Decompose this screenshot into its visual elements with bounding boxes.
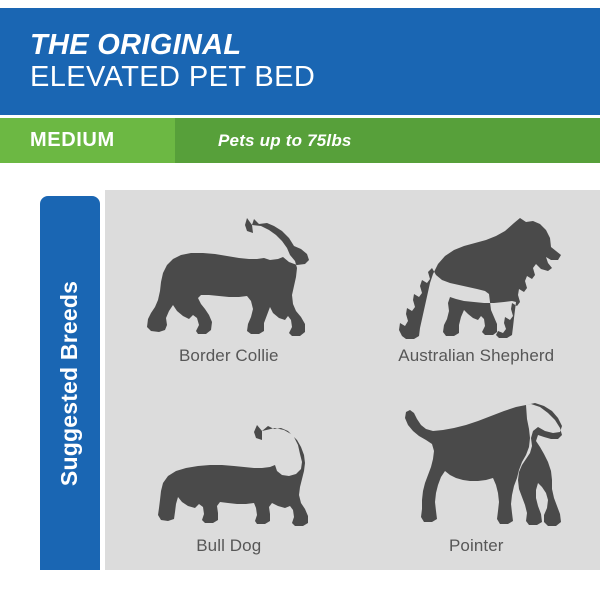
breeds-grid: Border Collie Australian Shepherd [105, 190, 600, 570]
breed-name: Border Collie [179, 347, 279, 374]
capacity-label: Pets up to 75lbs [218, 131, 352, 151]
suggested-breeds-panel: Border Collie Australian Shepherd [105, 190, 600, 570]
australian-shepherd-silhouette-icon [353, 190, 600, 347]
product-spec-card: THE ORIGINAL ELEVATED PET BED MEDIUM Pet… [0, 0, 600, 600]
size-band: MEDIUM Pets up to 75lbs [0, 118, 600, 163]
product-header: THE ORIGINAL ELEVATED PET BED [0, 8, 600, 115]
breed-name: Bull Dog [196, 537, 261, 564]
breed-item-border-collie: Border Collie [105, 190, 353, 380]
capacity-section: Pets up to 75lbs [175, 118, 600, 163]
bull-dog-silhouette-icon [105, 380, 353, 537]
breed-name: Australian Shepherd [398, 347, 554, 374]
product-title-secondary: ELEVATED PET BED [30, 61, 600, 93]
breed-item-bull-dog: Bull Dog [105, 380, 353, 570]
breed-name: Pointer [449, 537, 504, 564]
product-title-primary: THE ORIGINAL [30, 30, 600, 61]
border-collie-silhouette-icon [105, 190, 353, 347]
suggested-breeds-label: Suggested Breeds [57, 280, 84, 485]
size-label: MEDIUM [30, 129, 115, 152]
breed-item-australian-shepherd: Australian Shepherd [353, 190, 600, 380]
suggested-breeds-sidebar: Suggested Breeds [40, 196, 100, 570]
pointer-silhouette-icon [353, 380, 600, 537]
breed-item-pointer: Pointer [353, 380, 600, 570]
size-chip: MEDIUM [0, 118, 175, 163]
